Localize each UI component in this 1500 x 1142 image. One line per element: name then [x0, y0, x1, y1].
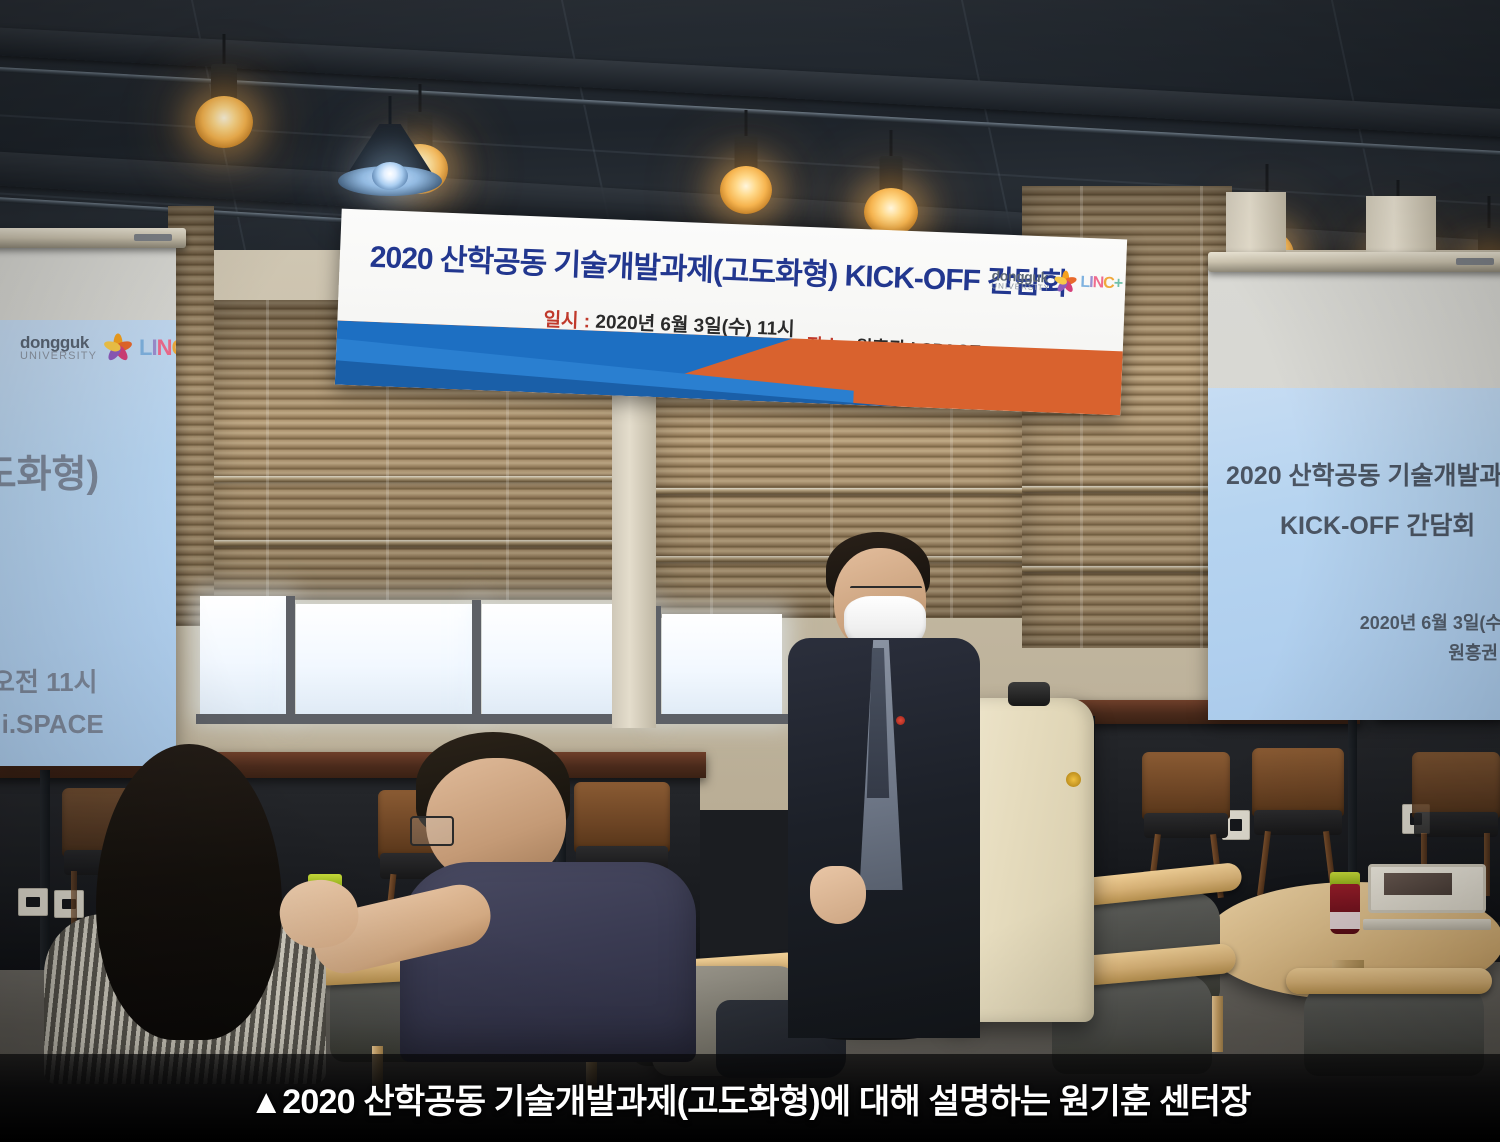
projection-screen-roller-right [1208, 252, 1500, 272]
projection-screen-roller-left [0, 228, 186, 248]
dongguk-logo: dongguk UNIVERSITY [20, 334, 97, 362]
dongguk-logo: dongguk UNIVERSITY [991, 268, 1051, 292]
window-pane [296, 604, 474, 716]
lapel-pin [896, 716, 905, 725]
pendant-light [718, 110, 774, 230]
dongguk-logo-subtext: UNIVERSITY [20, 351, 97, 362]
pendant-light [192, 34, 256, 164]
attendee-woman-hair [96, 744, 282, 1040]
pendant-light-cool [330, 96, 450, 206]
glasses-icon [850, 586, 922, 596]
podium-badge [1066, 772, 1081, 787]
event-banner: 2020 산학공동 기술개발과제(고도화형) KICK-OFF 간담회 일시 :… [335, 209, 1127, 416]
laptop-base [1363, 919, 1490, 930]
slide-right-title-1: 2020 산학공동 기술개발과제(고 [1226, 458, 1500, 494]
slide-right: 2020 산학공동 기술개발과제(고 KICK-OFF 간담회 2020년 6월… [1208, 388, 1500, 720]
counter-leg [1348, 712, 1357, 892]
slide-left-meta-2: 3층 i.SPACE [0, 702, 176, 746]
slide-left-meta-1: 수), 오전 11시 [0, 660, 176, 704]
window-mullion [472, 600, 481, 722]
linc-logo: LINC+ [1080, 274, 1122, 294]
attendee-man [382, 722, 712, 1062]
bottle-label [1330, 912, 1360, 929]
slide-left-title: (고도화형) [0, 448, 176, 503]
window-mullion [286, 596, 295, 720]
slide-right-title-2: KICK-OFF 간담회 [1280, 508, 1500, 544]
conference-photo: dongguk UNIVERSITY LINC+ (고도화형) 수), 오전 1… [0, 0, 1500, 1142]
speaker-presenter [780, 520, 1000, 1040]
speaker-hand [810, 866, 866, 924]
caption-text: ▲2020 산학공동 기술개발과제(고도화형)에 대해 설명하는 원기훈 센터장 [249, 1074, 1250, 1123]
flower-icon [105, 335, 131, 361]
slide-left-logo: dongguk UNIVERSITY LINC+ [20, 334, 176, 362]
flower-icon [1055, 272, 1076, 293]
slide-right-meta-1: 2020년 6월 3일(수 [1208, 608, 1500, 639]
podium-top-device [1008, 682, 1050, 706]
slide-left: dongguk UNIVERSITY LINC+ (고도화형) 수), 오전 1… [0, 320, 176, 766]
linc-logo: LINC+ [139, 335, 176, 361]
projection-screen-left: dongguk UNIVERSITY LINC+ (고도화형) 수), 오전 1… [0, 246, 176, 766]
projection-screen-right: 2020 산학공동 기술개발과제(고 KICK-OFF 간담회 2020년 6월… [1208, 270, 1500, 720]
laptop-screen [1384, 873, 1451, 895]
chair-arm [1286, 968, 1492, 994]
red-drink-bottle [1330, 872, 1360, 934]
window-pane [200, 596, 286, 716]
window-pane [662, 614, 782, 718]
laptop [1368, 864, 1486, 930]
slide-right-meta-2: 원흥권 [1208, 638, 1498, 669]
caption-band: ▲2020 산학공동 기술개발과제(고도화형)에 대해 설명하는 원기훈 센터장 [0, 1054, 1500, 1142]
glasses-icon [410, 816, 454, 846]
laptop-lid [1368, 864, 1486, 913]
